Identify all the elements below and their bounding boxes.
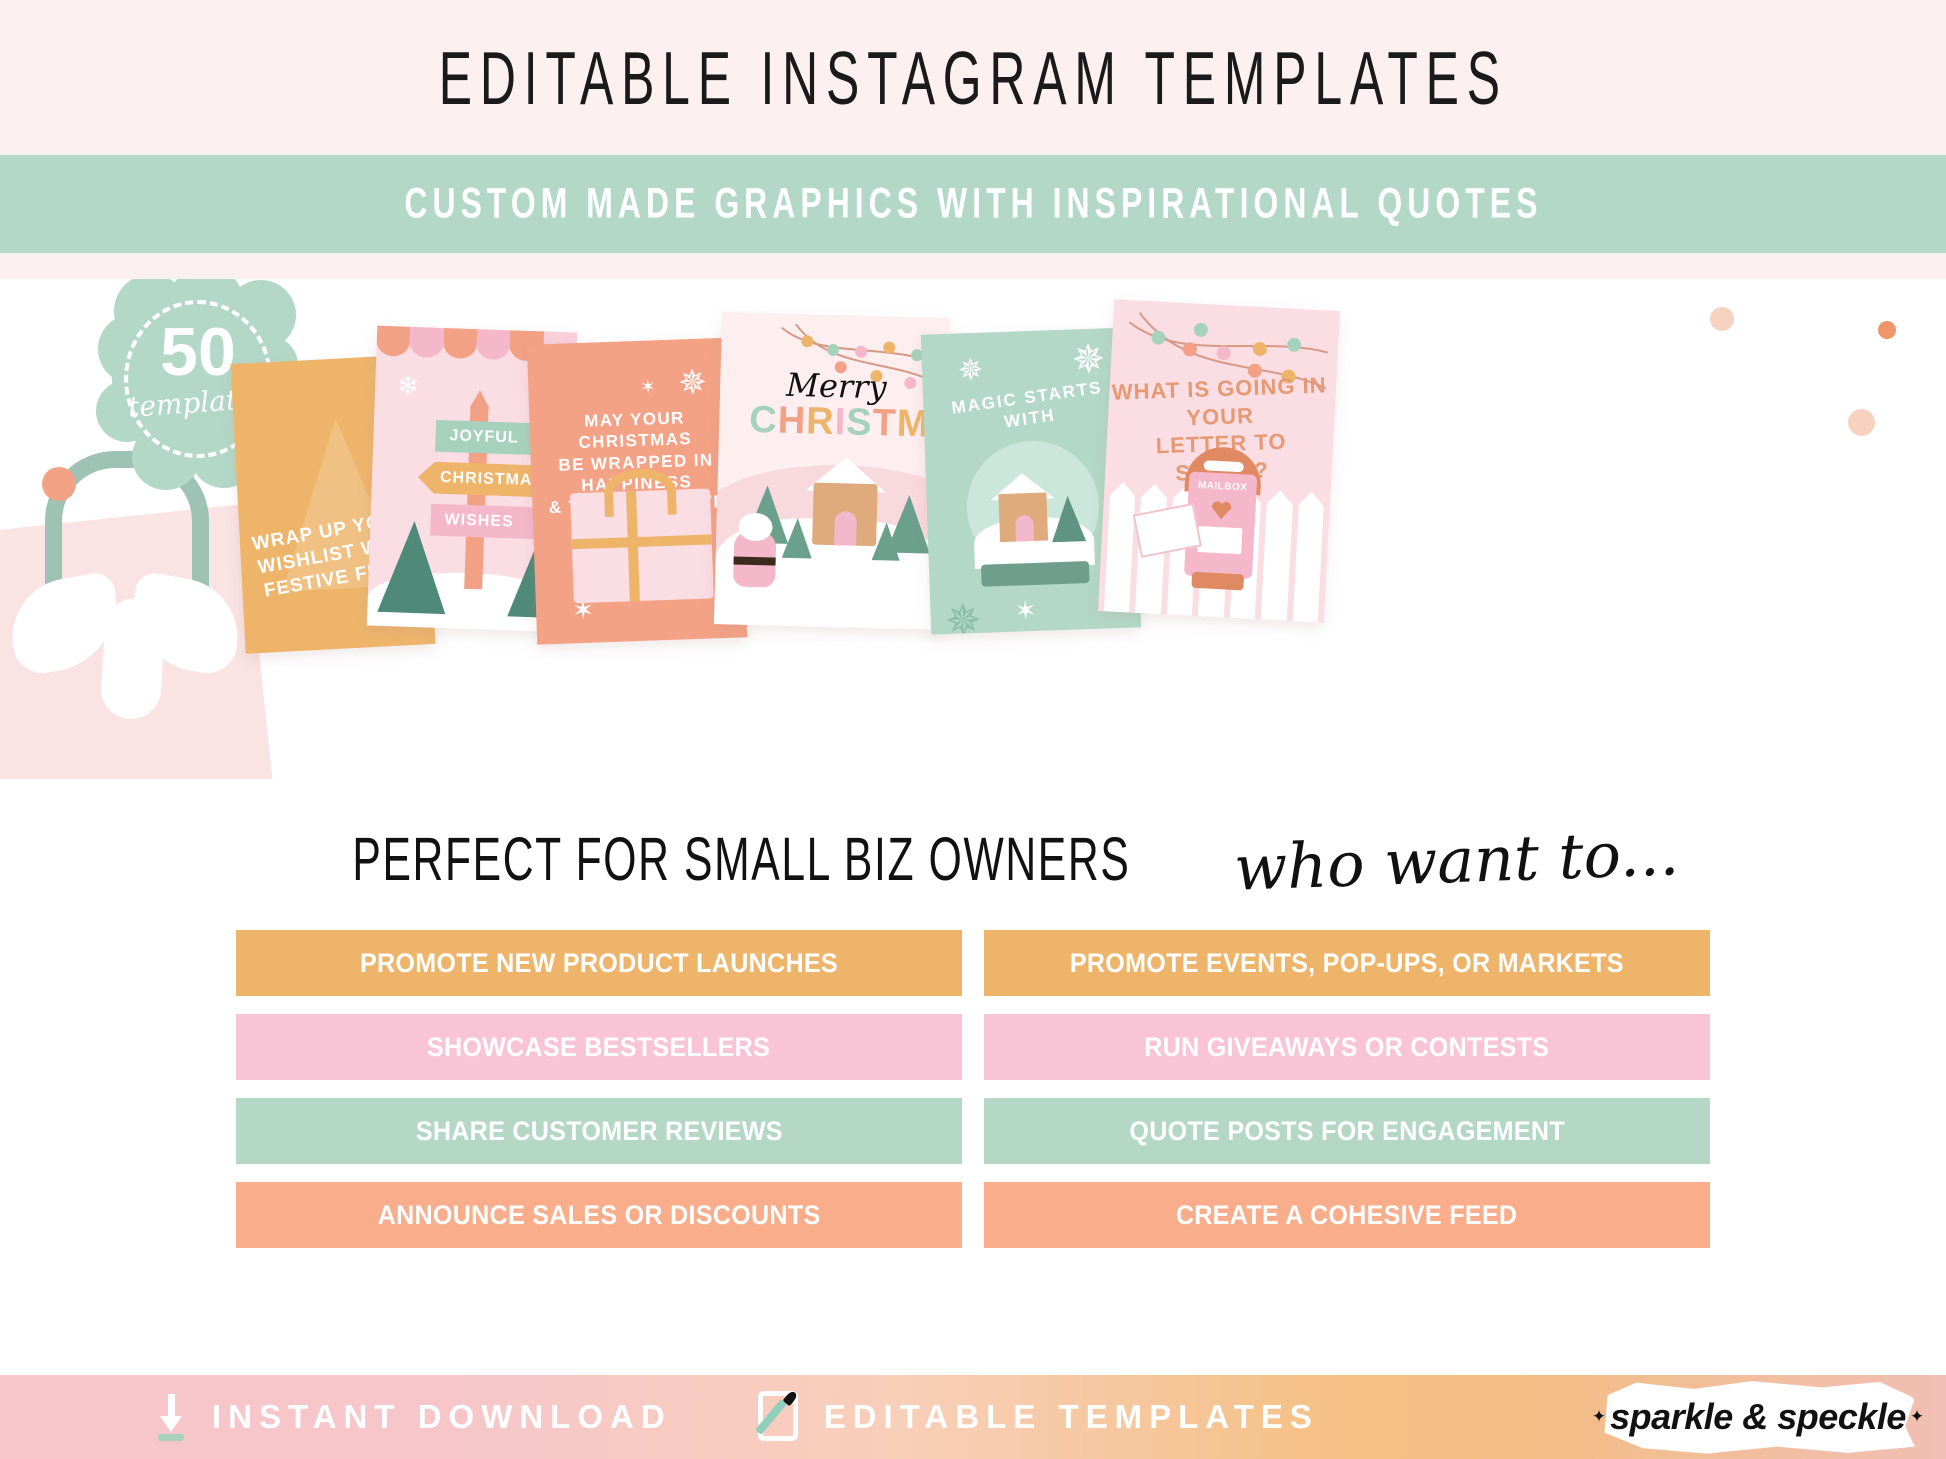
download-icon — [152, 1394, 190, 1440]
benefit-bar[interactable]: SHARE CUSTOMER REVIEWS — [236, 1098, 962, 1164]
page-title: EDITABLE INSTAGRAM TEMPLATES — [438, 34, 1507, 121]
benefit-bar[interactable]: CREATE A COHESIVE FEED — [984, 1182, 1710, 1248]
footer-instant-download-label: INSTANT DOWNLOAD — [212, 1398, 672, 1436]
template-card-word: CHRISTMAS — [749, 399, 950, 448]
section-headline: PERFECT FOR SMALL BIZ OWNERS who want to… — [0, 800, 1946, 920]
decor-dot — [1710, 307, 1734, 331]
santa-icon — [733, 530, 776, 587]
sparkle-icon: ✵ — [944, 595, 983, 635]
benefit-label: CREATE A COHESIVE FEED — [1176, 1200, 1517, 1231]
benefit-bar[interactable]: QUOTE POSTS FOR ENGAGEMENT — [984, 1098, 1710, 1164]
benefit-label: PROMOTE EVENTS, POP-UPS, OR MARKETS — [1070, 948, 1624, 979]
benefit-label: QUOTE POSTS FOR ENGAGEMENT — [1129, 1116, 1565, 1147]
benefit-bar[interactable]: PROMOTE NEW PRODUCT LAUNCHES — [236, 930, 962, 996]
headline-script: who want to... — [1233, 816, 1680, 904]
footer-instant-download: INSTANT DOWNLOAD — [152, 1394, 672, 1440]
sparkle-icon: ✵ — [958, 353, 984, 389]
page-subtitle: CUSTOM MADE GRAPHICS WITH INSPIRATIONAL … — [404, 180, 1542, 228]
poster-canvas: EDITABLE INSTAGRAM TEMPLATES CUSTOM MADE… — [0, 0, 1946, 1459]
benefit-label: PROMOTE NEW PRODUCT LAUNCHES — [360, 948, 838, 979]
benefit-label: ANNOUNCE SALES OR DISCOUNTS — [378, 1200, 821, 1231]
hero-showcase: 50 templates WRAP UP YOUR WISHLIST WITH … — [0, 279, 1946, 779]
benefit-label: RUN GIVEAWAYS OR CONTESTS — [1144, 1032, 1549, 1063]
header-subtitle-band: CUSTOM MADE GRAPHICS WITH INSPIRATIONAL … — [0, 155, 1946, 253]
template-card-merry-christmas[interactable]: Merry CHRISTMAS — [714, 312, 950, 630]
sparkle-icon: ✦ — [1592, 1407, 1606, 1427]
footer-editable-templates-label: EDITABLE TEMPLATES — [824, 1398, 1319, 1436]
edit-document-icon — [758, 1391, 802, 1443]
gift-bow-icon — [10, 569, 250, 679]
sparkle-icon: ✶ — [640, 376, 656, 398]
header-title-band: EDITABLE INSTAGRAM TEMPLATES — [0, 0, 1946, 155]
benefit-bar[interactable]: PROMOTE EVENTS, POP-UPS, OR MARKETS — [984, 930, 1710, 996]
decor-dot — [42, 467, 76, 501]
template-card-caption: MAGIC STARTS WITH — [922, 373, 1136, 444]
benefits-grid: PROMOTE NEW PRODUCT LAUNCHES PROMOTE EVE… — [236, 930, 1710, 1248]
sparkle-icon: ✶ — [1014, 595, 1037, 627]
sparkle-icon: ✦ — [1910, 1407, 1924, 1427]
template-card-letter-to-santa[interactable]: WHAT IS GOING IN YOUR LETTER TO SANTA? M… — [1098, 299, 1340, 622]
snowflake-icon: ❄ — [397, 370, 420, 402]
benefit-label: SHARE CUSTOMER REVIEWS — [415, 1116, 782, 1147]
sparkle-icon: ✵ — [678, 363, 708, 404]
decor-dot — [1848, 409, 1875, 436]
decor-dot — [1878, 321, 1896, 339]
benefit-bar[interactable]: ANNOUNCE SALES OR DISCOUNTS — [236, 1182, 962, 1248]
benefit-bar[interactable]: RUN GIVEAWAYS OR CONTESTS — [984, 1014, 1710, 1080]
brand-logo: ✦ sparkle & speckle ✦ — [1598, 1378, 1918, 1456]
benefit-label: SHOWCASE BESTSELLERS — [427, 1032, 770, 1063]
brand-logo-text: sparkle & speckle — [1610, 1396, 1906, 1438]
headline-caps: PERFECT FOR SMALL BIZ OWNERS — [353, 825, 1131, 896]
benefit-bar[interactable]: SHOWCASE BESTSELLERS — [236, 1014, 962, 1080]
footer-editable-templates: EDITABLE TEMPLATES — [758, 1391, 1319, 1443]
header-accent-strip — [0, 253, 1946, 279]
